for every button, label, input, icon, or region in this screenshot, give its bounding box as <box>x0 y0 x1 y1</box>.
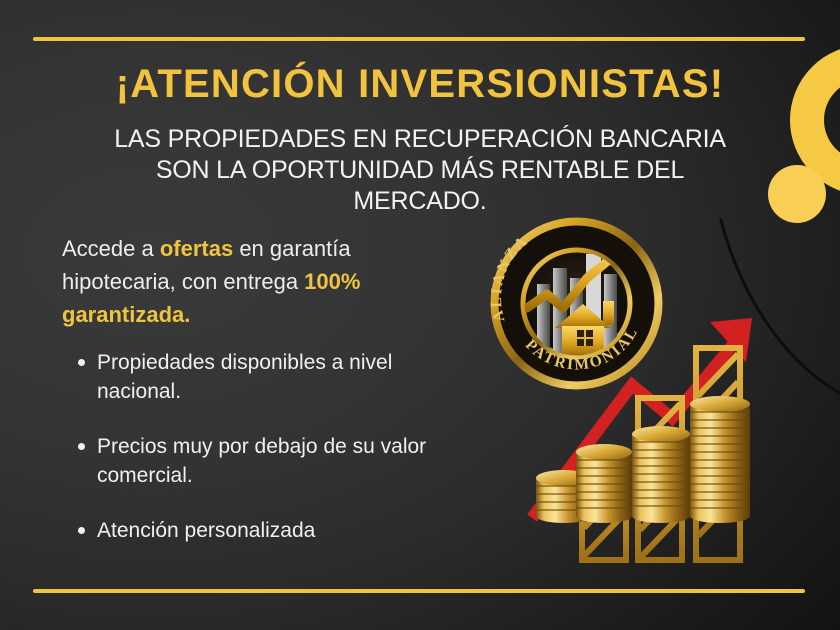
lede-highlight-ofertas: ofertas <box>160 236 233 261</box>
top-divider-rule <box>33 37 805 41</box>
benefits-list: Propiedades disponibles a nivel nacional… <box>62 348 462 571</box>
lede-paragraph: Accede a ofertas en garantía hipotecaria… <box>62 232 442 331</box>
coin-stacks-icon <box>536 396 750 523</box>
coin-stack-3 <box>632 426 690 523</box>
promotional-poster: ¡ATENCIÓN INVERSIONISTAS! LAS PROPIEDADE… <box>0 0 840 630</box>
lede-part-1: Accede a <box>62 236 160 261</box>
list-item: Atención personalizada <box>62 516 462 545</box>
poster-title: ¡ATENCIÓN INVERSIONISTAS! <box>0 62 840 107</box>
list-item: Precios muy por debajo de su valor comer… <box>62 432 462 490</box>
poster-subtitle: LAS PROPIEDADES EN RECUPERACIÓN BANCARIA… <box>110 124 730 217</box>
growth-chart-graphic <box>520 300 840 592</box>
list-item: Propiedades disponibles a nivel nacional… <box>62 348 462 406</box>
coin-stack-2 <box>576 444 632 523</box>
gold-dot-decoration <box>768 165 826 223</box>
coin-stack-4 <box>690 396 750 523</box>
